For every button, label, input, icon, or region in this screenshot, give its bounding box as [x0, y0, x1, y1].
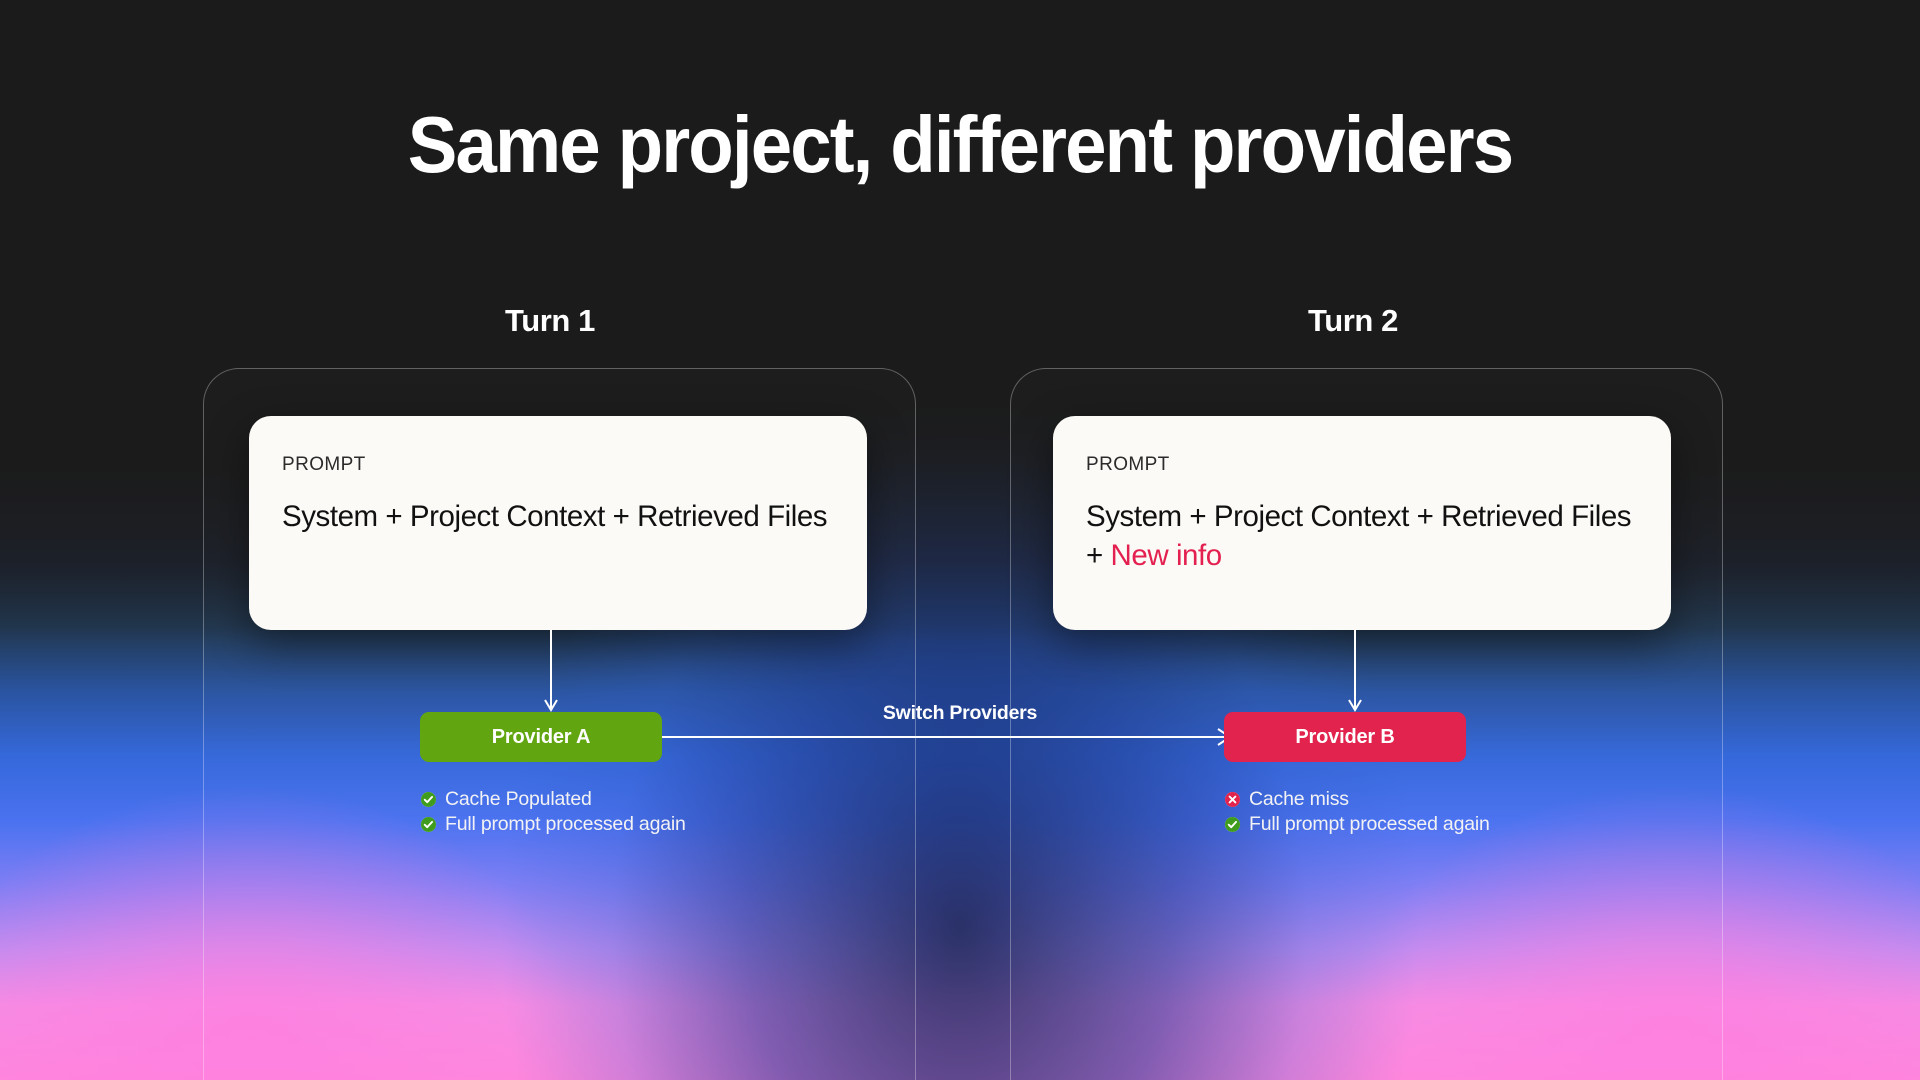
status-text: Cache miss: [1249, 790, 1349, 810]
switch-providers-arrow: [662, 724, 1234, 750]
status-text: Cache Populated: [445, 790, 592, 810]
status-text: Full prompt processed again: [1249, 815, 1490, 835]
check-circle-icon: [421, 817, 436, 832]
status-row: Full prompt processed again: [421, 812, 686, 837]
prompt-kicker: PROMPT: [1086, 455, 1638, 474]
turn-1-status-list: Cache Populated Full prompt processed ag…: [421, 787, 686, 837]
turn-2-label: Turn 2: [1308, 303, 1398, 339]
turn-2-status-list: Cache miss Full prompt processed again: [1225, 787, 1490, 837]
page-title: Same project, different providers: [67, 105, 1853, 185]
status-text: Full prompt processed again: [445, 815, 686, 835]
check-circle-icon: [1225, 817, 1240, 832]
x-circle-icon: [1225, 792, 1240, 807]
status-row: Cache Populated: [421, 787, 686, 812]
prompt-body: System + Project Context + Retrieved Fil…: [282, 497, 834, 536]
provider-a-button[interactable]: Provider A: [420, 712, 662, 762]
turn-1-label: Turn 1: [505, 303, 595, 339]
switch-providers-label: Switch Providers: [883, 702, 1037, 725]
turn-2-prompt-card: PROMPT System + Project Context + Retrie…: [1053, 416, 1671, 630]
check-circle-icon: [421, 792, 436, 807]
turn-2-flow-arrow-down: [1348, 630, 1362, 714]
prompt-body: System + Project Context + Retrieved Fil…: [1086, 497, 1638, 575]
prompt-body-text: System + Project Context + Retrieved Fil…: [282, 500, 827, 533]
status-row: Full prompt processed again: [1225, 812, 1490, 837]
status-row: Cache miss: [1225, 787, 1490, 812]
turn-1-flow-arrow-down: [544, 630, 558, 714]
prompt-kicker: PROMPT: [282, 455, 834, 474]
turn-1-prompt-card: PROMPT System + Project Context + Retrie…: [249, 416, 867, 630]
provider-b-button[interactable]: Provider B: [1224, 712, 1466, 762]
prompt-body-accent: New info: [1111, 539, 1222, 572]
